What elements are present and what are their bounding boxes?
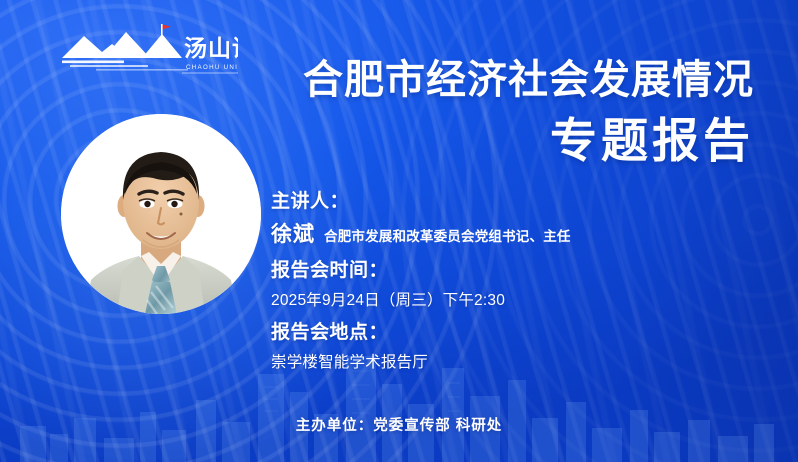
chaohu-university-logo: 汤山讲坛 CHAOHU UNIVERSITY	[58, 22, 238, 80]
speaker-row: 徐斌 合肥市发展和改革委员会党组书记、主任	[271, 218, 571, 248]
page-title: 合肥市经济社会发展情况 专题报告	[303, 58, 754, 167]
time-label: 报告会时间：	[271, 258, 571, 283]
speaker-portrait	[61, 114, 261, 314]
speaker-portrait-image	[61, 114, 261, 314]
venue-value: 崇学楼智能学术报告厅	[271, 350, 571, 372]
speaker-name: 徐斌	[271, 218, 315, 248]
headline-line-2: 专题报告	[303, 116, 754, 167]
logo-name-cn: 汤山讲坛	[184, 35, 238, 61]
time-value: 2025年9月24日（周三）下午2:30	[271, 288, 571, 310]
organizers: 主办单位：党委宣传部 科研处	[0, 414, 798, 435]
headline-line-1: 合肥市经济社会发展情况	[303, 58, 754, 103]
speaker-title: 合肥市发展和改革委员会党组书记、主任	[324, 225, 571, 245]
speaker-label: 主讲人：	[271, 189, 571, 214]
event-details: 主讲人： 徐斌 合肥市发展和改革委员会党组书记、主任 报告会时间： 2025年9…	[271, 189, 571, 372]
venue-label: 报告会地点：	[271, 320, 571, 345]
event-poster: 汤山讲坛 CHAOHU UNIVERSITY	[0, 0, 798, 462]
logo-name-en: CHAOHU UNIVERSITY	[186, 64, 238, 71]
logo-mountain-icon: 汤山讲坛 CHAOHU UNIVERSITY	[58, 22, 238, 80]
